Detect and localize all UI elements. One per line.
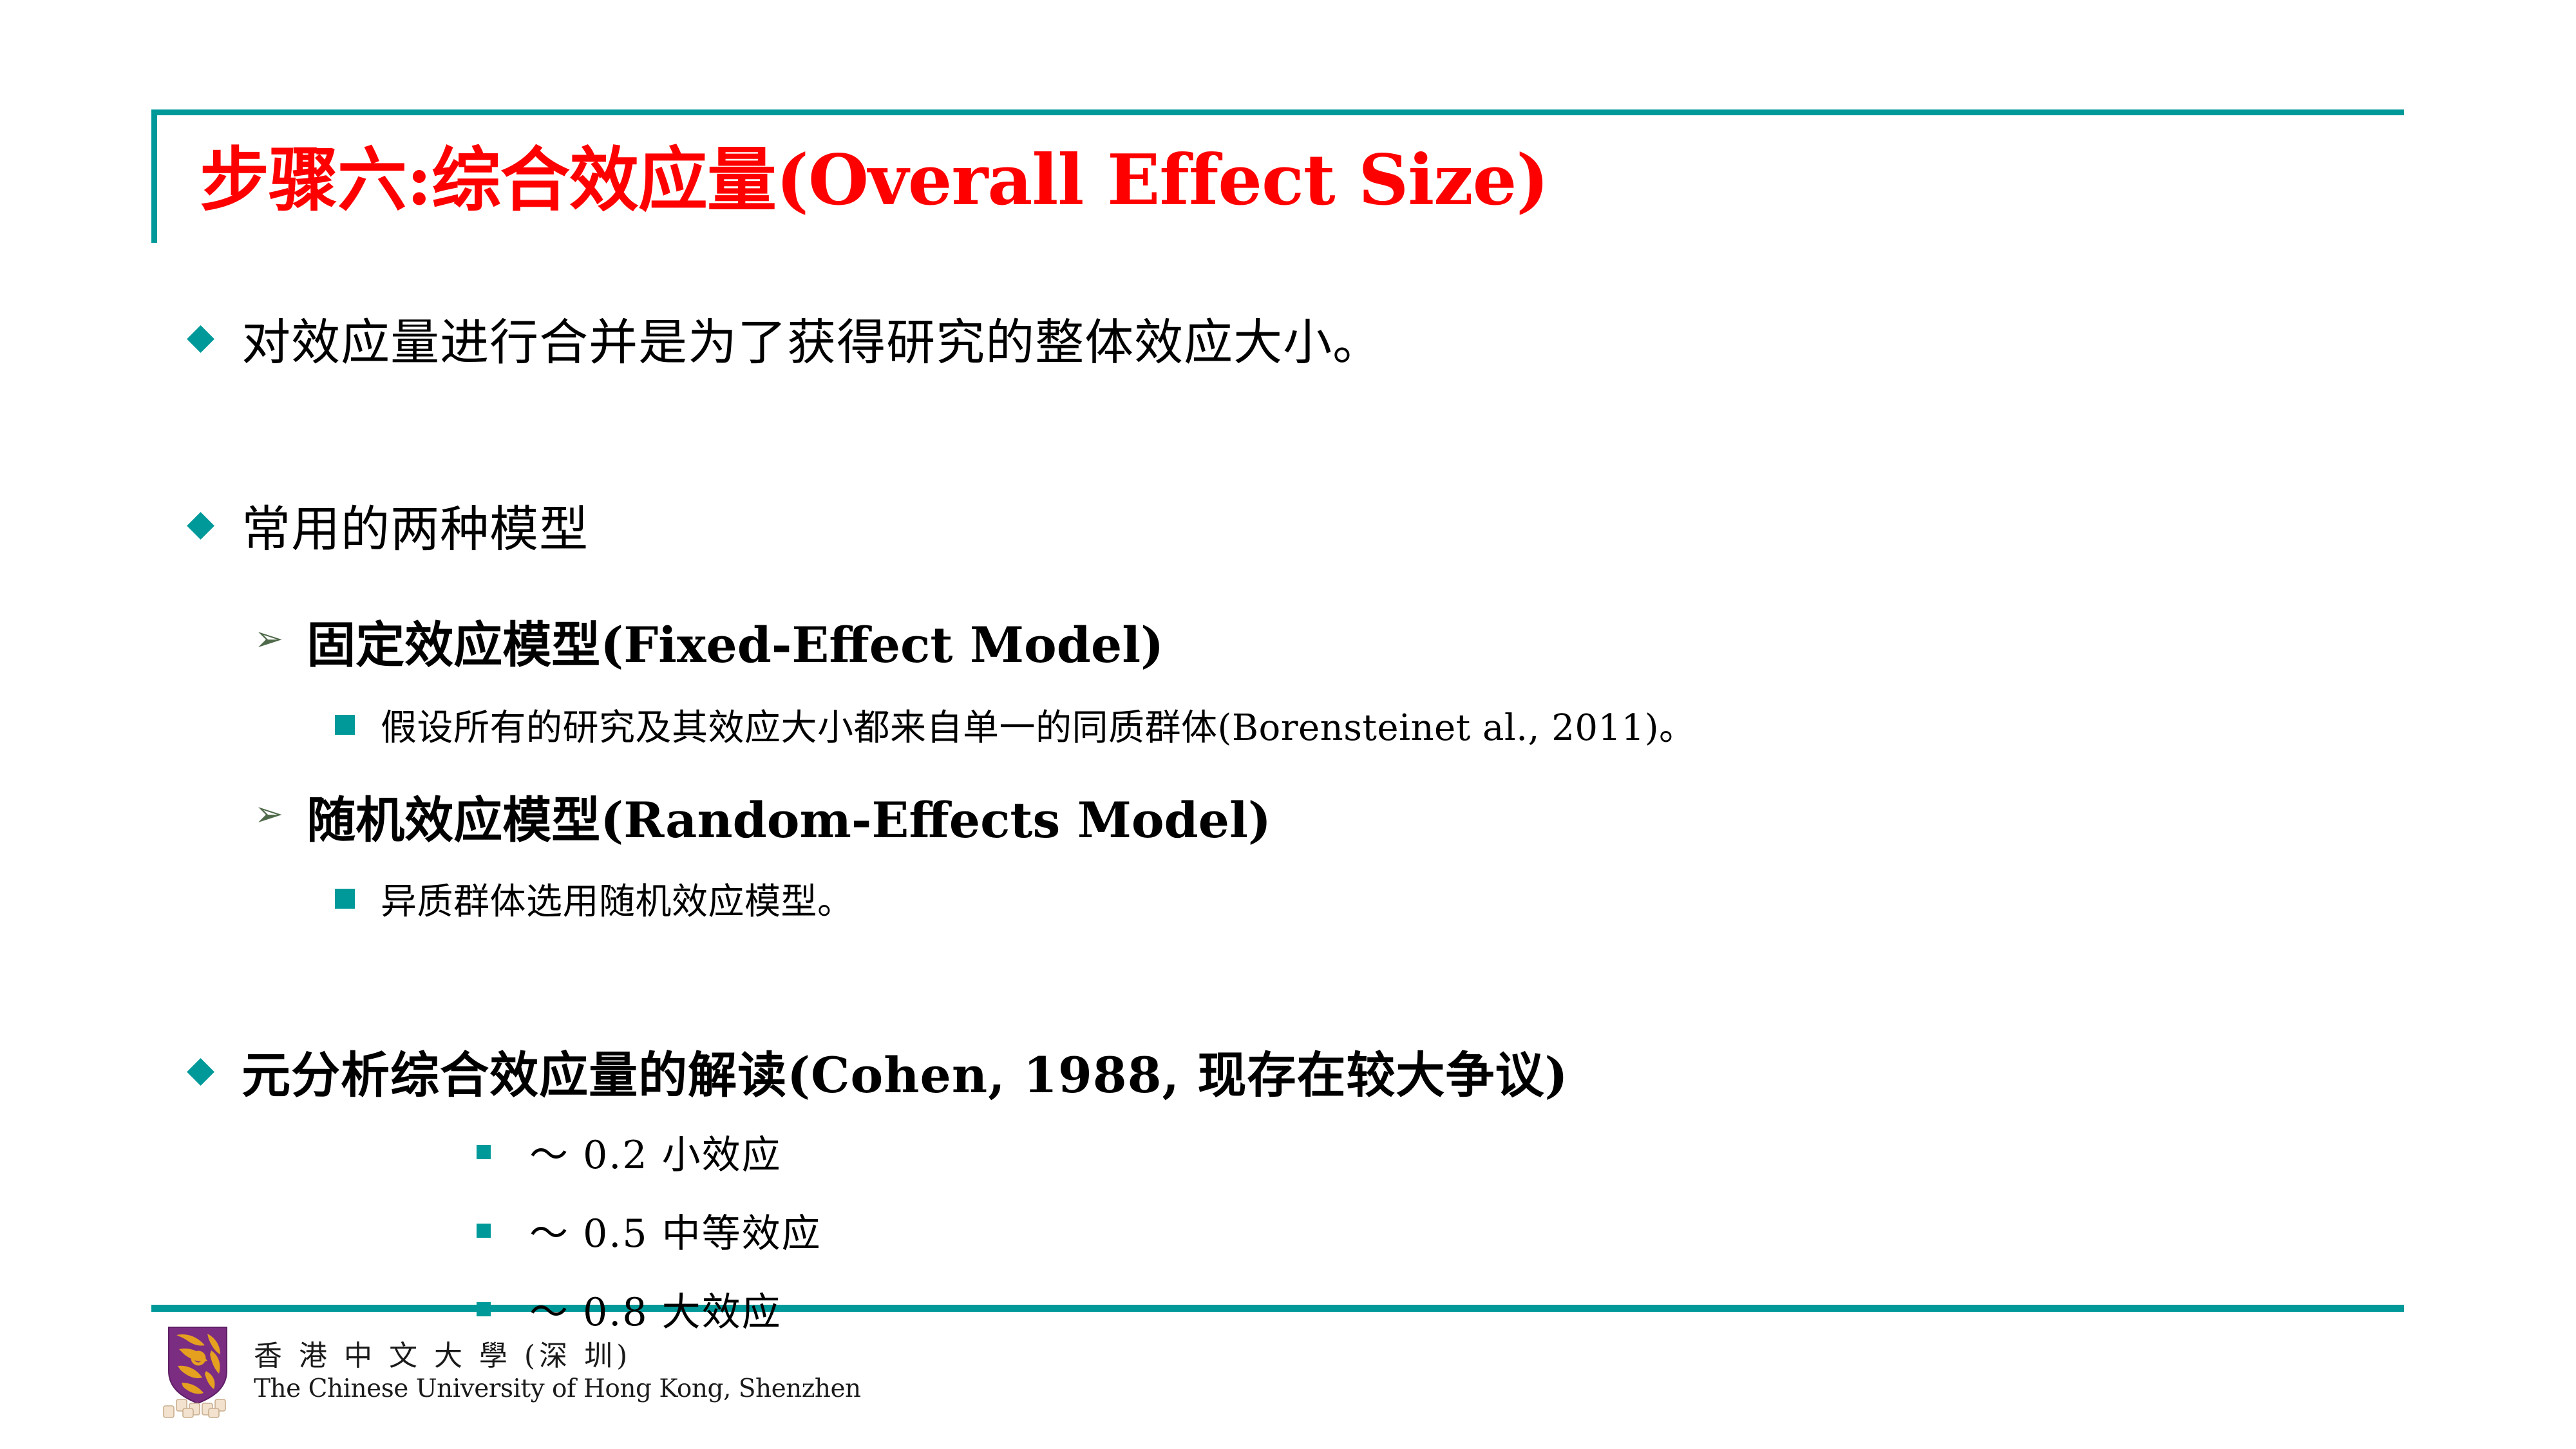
list-item-effect-size-medium: ～ 0.5 中等效应 [477,1202,822,1258]
bullet-item-effect-size-interpretation: ◆ 元分析综合效应量的解读(Cohen, 1988, 现存在较大争议) [187,1036,1568,1106]
footer-branding: 香 港 中 文 大 學 (深 圳) The Chinese University… [160,1323,861,1420]
bullet-item-label: 对效应量进行合并是为了获得研究的整体效应大小。 [241,303,1382,374]
square-bullet-icon [477,1145,491,1159]
bullet-item-fixed-effect-model: ➢ 固定效应模型(Fixed-Effect Model) [254,605,1164,676]
slide-body: ◆ 对效应量进行合并是为了获得研究的整体效应大小。 ◆ 常用的两种模型 ➢ 固定… [0,0,2576,1449]
square-bullet-icon [335,889,355,909]
slide-canvas: 步骤六:综合效应量(Overall Effect Size) ◆ 对效应量进行合… [0,0,2576,1449]
bullet-item-label: 元分析综合效应量的解读(Cohen, 1988, 现存在较大争议) [241,1036,1568,1106]
bullet-item-label: 异质群体选用随机效应模型。 [381,873,854,925]
bullet-item-label: 假设所有的研究及其效应大小都来自单一的同质群体(Borensteinet al.… [381,699,1696,751]
list-item-label: ～ 0.5 中等效应 [529,1202,822,1258]
bullet-item-two-models: ◆ 常用的两种模型 [187,489,589,560]
footer-university-name-cn: 香 港 中 文 大 學 (深 圳) [254,1338,861,1374]
square-bullet-icon [477,1224,491,1238]
arrow-bullet-icon: ➢ [254,621,283,656]
diamond-bullet-icon: ◆ [187,1052,214,1088]
bullet-item-fixed-effect-detail: 假设所有的研究及其效应大小都来自单一的同质群体(Borensteinet al.… [335,699,1696,751]
bullet-item-random-effects-model: ➢ 随机效应模型(Random-Effects Model) [254,781,1271,851]
bullet-item-overall-purpose: ◆ 对效应量进行合并是为了获得研究的整体效应大小。 [187,303,1382,374]
diamond-bullet-icon: ◆ [187,319,214,355]
square-bullet-icon [335,715,355,735]
arrow-bullet-icon: ➢ [254,797,283,831]
bullet-item-label: 随机效应模型(Random-Effects Model) [307,781,1271,851]
footer-text-block: 香 港 中 文 大 學 (深 圳) The Chinese University… [254,1338,861,1405]
list-item-label: ～ 0.2 小效应 [529,1124,782,1180]
bullet-item-random-effects-detail: 异质群体选用随机效应模型。 [335,873,854,925]
bullet-item-label: 常用的两种模型 [241,489,589,560]
square-bullet-icon [477,1302,491,1316]
bullet-item-label: 固定效应模型(Fixed-Effect Model) [307,605,1164,676]
list-item-effect-size-small: ～ 0.2 小效应 [477,1124,782,1180]
diamond-bullet-icon: ◆ [187,506,214,542]
footer-university-name-en: The Chinese University of Hong Kong, She… [254,1374,861,1405]
cuhk-crest-icon [160,1323,236,1420]
